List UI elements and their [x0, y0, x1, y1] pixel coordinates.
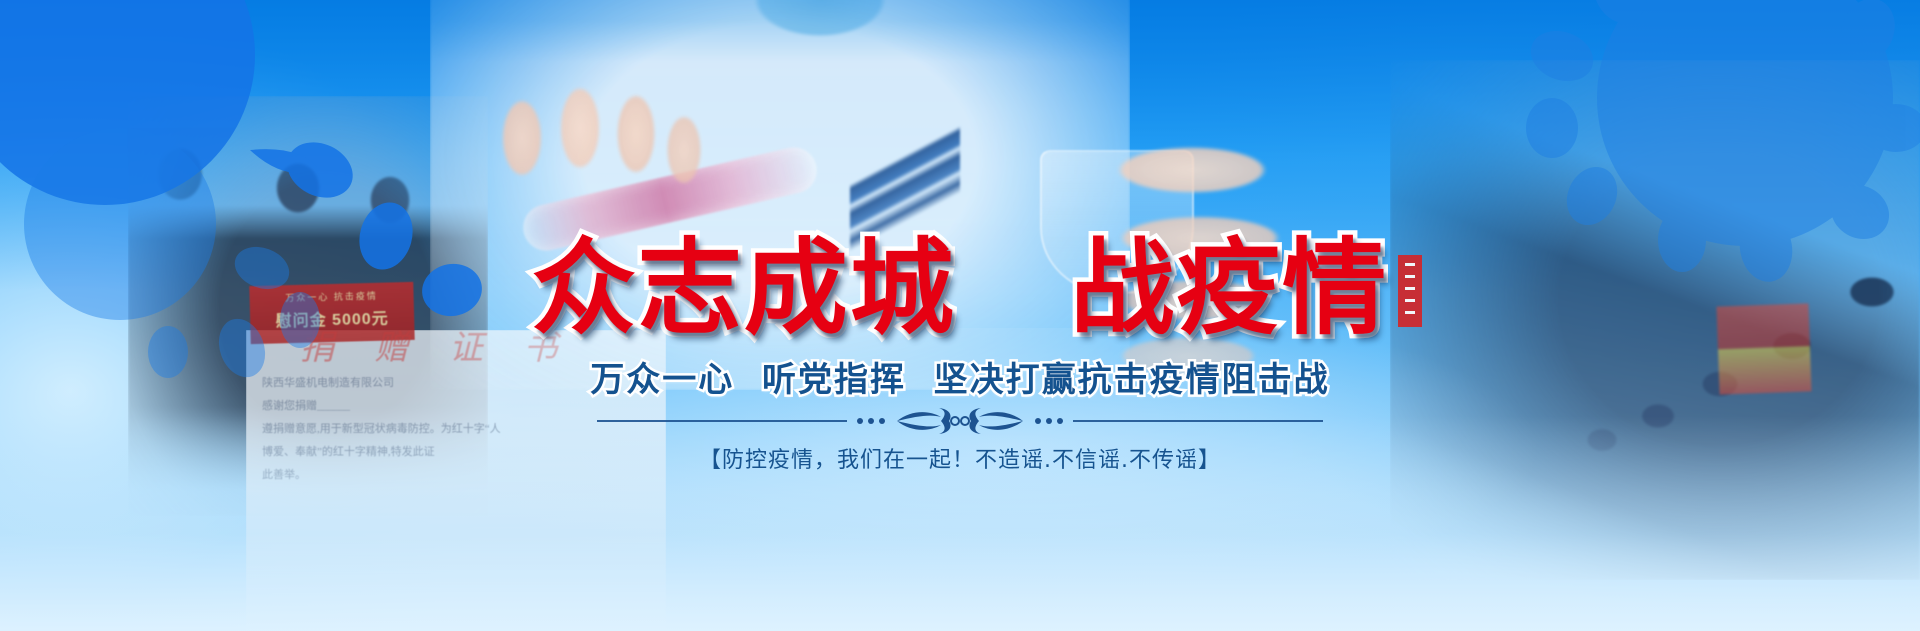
divider-dots-left	[857, 418, 885, 424]
divider-flourish-icon	[895, 408, 1025, 434]
covid-awareness-banner: 万众一心 抗击疫情 慰问金 5000元 捐 赠 证 书 陕西华盛机电制造有限公司…	[0, 0, 1920, 631]
subtitle-container: 万众一心 听党指挥 坚决打赢抗击疫情阻击战	[0, 352, 1920, 401]
headline-text: 众志成城 战疫情	[532, 232, 1389, 344]
note-container: 【防控疫情，我们在一起！不造谣.不信谣.不传谣】	[0, 442, 1920, 474]
subtitle-text: 万众一心 听党指挥 坚决打赢抗击疫情阻击战	[590, 352, 1329, 401]
note-text: 【防控疫情，我们在一起！不造谣.不信谣.不传谣】	[699, 442, 1221, 474]
ornamental-divider	[0, 408, 1920, 434]
divider-rule-left	[597, 420, 847, 422]
divider-rule-right	[1073, 420, 1323, 422]
photo-hand-upper	[470, 42, 730, 222]
divider-dots-right	[1035, 418, 1063, 424]
headline-container: 众志成城 战疫情	[0, 232, 1920, 344]
